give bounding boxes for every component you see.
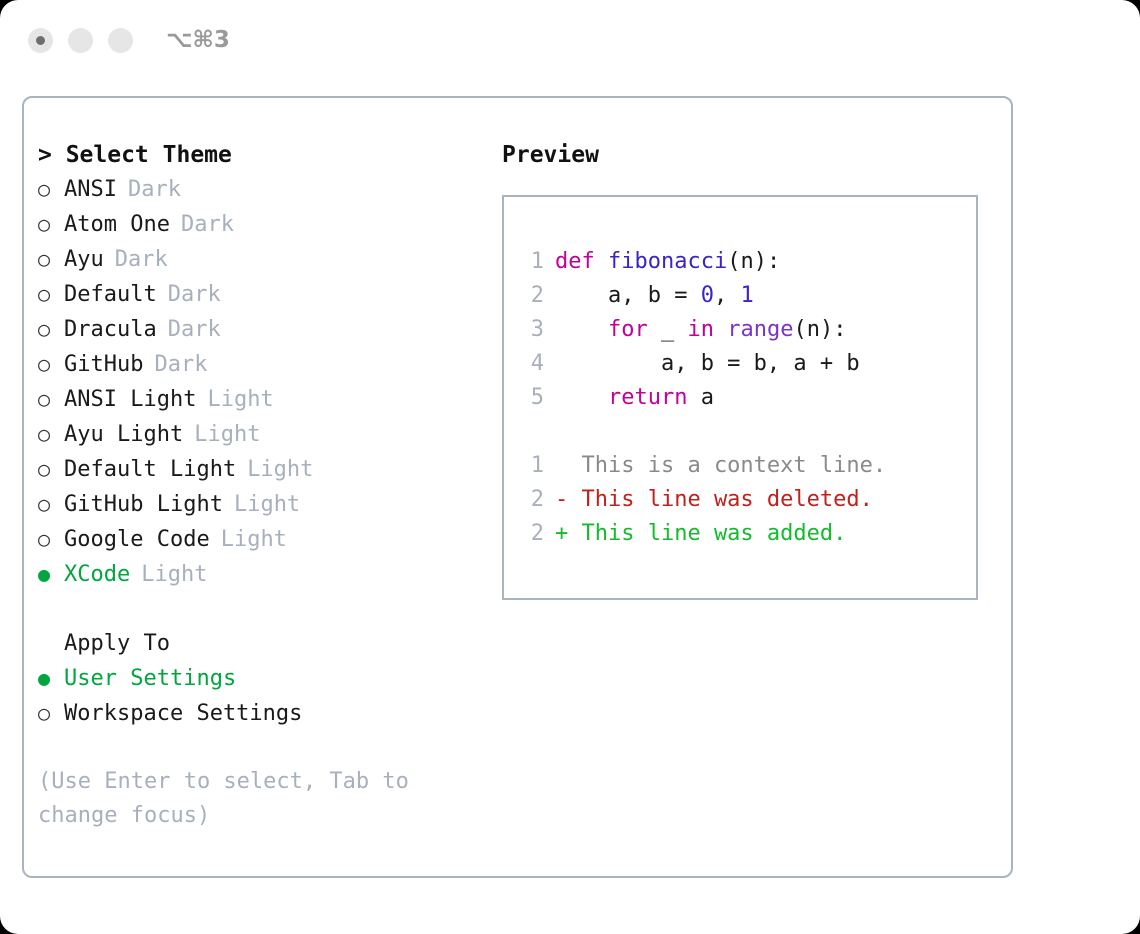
code-token-plain <box>555 317 608 342</box>
diff-line-text-del: - This line was deleted. <box>555 483 873 517</box>
apply-to-header: ○ Apply To <box>38 626 478 661</box>
code-line: 1def fibonacci(n): <box>518 245 976 279</box>
diff-line-number: 1 <box>518 449 544 483</box>
radio-unselected-icon: ○ <box>38 207 64 241</box>
theme-option[interactable]: ○DraculaDark <box>38 312 478 347</box>
theme-option-variant-tag: Light <box>247 453 313 487</box>
theme-option-label: Atom One <box>64 208 170 242</box>
apply-to-header-marker: ○ <box>38 626 64 660</box>
code-line-number: 5 <box>518 381 544 415</box>
code-line-number: 1 <box>518 245 544 279</box>
radio-unselected-icon: ○ <box>38 696 64 730</box>
theme-option-label: GitHub <box>64 348 143 382</box>
apply-to-header-label: Apply To <box>64 627 170 661</box>
theme-option[interactable]: ○ANSIDark <box>38 172 478 207</box>
theme-option-variant-tag: Dark <box>154 348 207 382</box>
code-line-number: 2 <box>518 279 544 313</box>
theme-option-label: ANSI <box>64 173 117 207</box>
code-token-kw: in <box>687 317 714 342</box>
code-token-kw: for <box>608 317 648 342</box>
theme-option-variant-tag: Light <box>234 488 300 522</box>
diff-sample: 1 This is a context line.2- This line wa… <box>518 449 976 551</box>
radio-unselected-icon: ○ <box>38 172 64 206</box>
code-token-builtin: range <box>727 317 793 342</box>
code-line-content: def fibonacci(n): <box>555 245 780 279</box>
preview-column: Preview 1def fibonacci(n):2 a, b = 0, 13… <box>502 138 982 600</box>
radio-unselected-icon: ○ <box>38 277 64 311</box>
radio-unselected-icon: ○ <box>38 347 64 381</box>
radio-unselected-icon: ○ <box>38 487 64 521</box>
code-token-plain <box>714 317 727 342</box>
theme-option-variant-tag: Dark <box>181 208 234 242</box>
code-token-plain: a, b = b, a + b <box>555 351 860 376</box>
radio-unselected-icon: ○ <box>38 522 64 556</box>
window-dot-active[interactable] <box>28 28 53 53</box>
theme-list[interactable]: ○ANSIDark○Atom OneDark○AyuDark○DefaultDa… <box>38 172 478 592</box>
code-token-fn: fibonacci <box>608 249 727 274</box>
theme-option-label: GitHub Light <box>64 488 223 522</box>
code-token-plain: a, b = <box>555 283 701 308</box>
code-token-plain: a <box>687 385 714 410</box>
theme-option-variant-tag: Light <box>194 418 260 452</box>
titlebar: ⌥⌘3 <box>0 0 1140 80</box>
code-token-num: 0 <box>701 283 714 308</box>
list-spacer <box>38 592 478 626</box>
code-token-plain: (n): <box>727 249 780 274</box>
code-token-plain: _ <box>648 317 688 342</box>
code-sample: 1def fibonacci(n):2 a, b = 0, 13 for _ i… <box>518 245 976 415</box>
theme-option-label: XCode <box>64 558 130 592</box>
theme-option-label: Dracula <box>64 313 157 347</box>
theme-option[interactable]: ○Ayu LightLight <box>38 417 478 452</box>
theme-option[interactable]: ○GitHubDark <box>38 347 478 382</box>
theme-option[interactable]: ○ANSI LightLight <box>38 382 478 417</box>
diff-line-number: 2 <box>518 517 544 551</box>
window-dot-third[interactable] <box>108 28 133 53</box>
theme-selector-column: > Select Theme ○ANSIDark○Atom OneDark○Ay… <box>38 138 478 833</box>
code-line: 4 a, b = b, a + b <box>518 347 976 381</box>
radio-unselected-icon: ○ <box>38 452 64 486</box>
preview-header: Preview <box>502 138 982 172</box>
radio-unselected-icon: ○ <box>38 312 64 346</box>
theme-option-label: Ayu Light <box>64 418 183 452</box>
keyboard-hint-text: (Use Enter to select, Tab to change focu… <box>38 765 438 833</box>
theme-option-variant-tag: Light <box>141 558 207 592</box>
theme-option-variant-tag: Dark <box>168 278 221 312</box>
preview-box: 1def fibonacci(n):2 a, b = 0, 13 for _ i… <box>502 195 978 600</box>
apply-to-list[interactable]: ●User Settings○Workspace Settings <box>38 661 478 731</box>
code-line: 2 a, b = 0, 1 <box>518 279 976 313</box>
theme-option-variant-tag: Dark <box>128 173 181 207</box>
theme-option[interactable]: ○Atom OneDark <box>38 207 478 242</box>
radio-unselected-icon: ○ <box>38 382 64 416</box>
window-dot-active-inner <box>36 36 45 45</box>
theme-option-variant-tag: Dark <box>115 243 168 277</box>
window-dot-second[interactable] <box>68 28 93 53</box>
keyboard-shortcut-badge: ⌥⌘3 <box>166 27 230 53</box>
radio-selected-icon: ● <box>38 557 64 591</box>
code-token-kw: def <box>555 249 608 274</box>
radio-selected-icon: ● <box>38 661 64 695</box>
diff-line-text-add: + This line was added. <box>555 517 846 551</box>
apply-to-option-label: User Settings <box>64 662 236 696</box>
diff-line: 2+ This line was added. <box>518 517 976 551</box>
theme-option[interactable]: ●XCodeLight <box>38 557 478 592</box>
code-line-content: return a <box>555 381 714 415</box>
apply-to-option[interactable]: ○Workspace Settings <box>38 696 478 731</box>
code-line-content: a, b = b, a + b <box>555 347 860 381</box>
code-diff-gap <box>518 415 976 449</box>
radio-unselected-icon: ○ <box>38 417 64 451</box>
code-line-number: 4 <box>518 347 544 381</box>
code-line: 3 for _ in range(n): <box>518 313 976 347</box>
code-token-num: 1 <box>740 283 753 308</box>
select-theme-header: > Select Theme <box>38 138 478 172</box>
diff-line-number: 2 <box>518 483 544 517</box>
theme-option-label: Google Code <box>64 523 210 557</box>
apply-to-option[interactable]: ●User Settings <box>38 661 478 696</box>
theme-option[interactable]: ○DefaultDark <box>38 277 478 312</box>
code-line-content: for _ in range(n): <box>555 313 846 347</box>
window-controls <box>28 28 133 53</box>
app-window: ⌥⌘3 > Select Theme ○ANSIDark○Atom OneDar… <box>0 0 1140 934</box>
theme-option-variant-tag: Light <box>221 523 287 557</box>
apply-to-option-label: Workspace Settings <box>64 697 302 731</box>
theme-option-label: ANSI Light <box>64 383 196 417</box>
code-line-content: a, b = 0, 1 <box>555 279 754 313</box>
theme-option[interactable]: ○Default LightLight <box>38 452 478 487</box>
diff-line: 1 This is a context line. <box>518 449 976 483</box>
theme-option[interactable]: ○Google CodeLight <box>38 522 478 557</box>
diff-line: 2- This line was deleted. <box>518 483 976 517</box>
theme-option-label: Default Light <box>64 453 236 487</box>
radio-unselected-icon: ○ <box>38 242 64 276</box>
code-line-number: 3 <box>518 313 544 347</box>
theme-option[interactable]: ○AyuDark <box>38 242 478 277</box>
theme-option-variant-tag: Light <box>207 383 273 417</box>
theme-option[interactable]: ○GitHub LightLight <box>38 487 478 522</box>
theme-option-label: Default <box>64 278 157 312</box>
theme-option-variant-tag: Dark <box>168 313 221 347</box>
diff-line-text-ctx: This is a context line. <box>555 449 886 483</box>
hint-spacer <box>38 731 478 765</box>
main-panel: > Select Theme ○ANSIDark○Atom OneDark○Ay… <box>22 96 1013 878</box>
code-token-plain: (n): <box>793 317 846 342</box>
code-token-kw: return <box>608 385 687 410</box>
code-token-plain: , <box>714 283 741 308</box>
code-token-plain <box>555 385 608 410</box>
theme-option-label: Ayu <box>64 243 104 277</box>
code-line: 5 return a <box>518 381 976 415</box>
